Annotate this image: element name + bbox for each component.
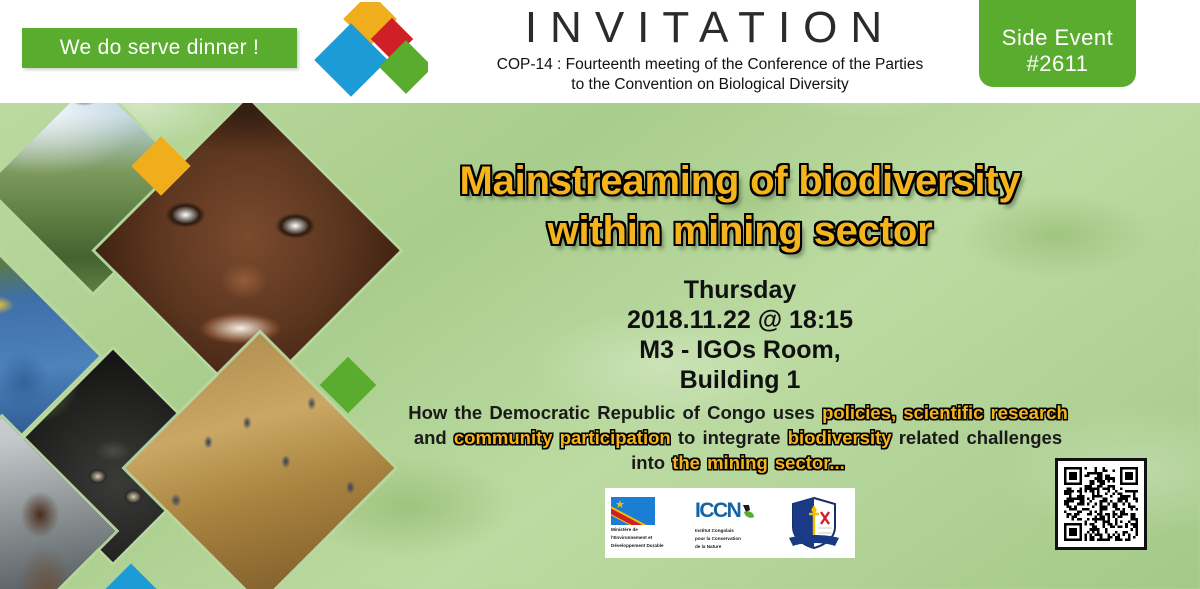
description-highlight: community participation: [454, 427, 671, 448]
iccn-okapi-leaf-icon: [741, 503, 754, 519]
photo-collage: [0, 103, 420, 589]
event-day: Thursday: [390, 275, 1090, 305]
description-highlight: policies,: [822, 402, 896, 423]
cop-subtitle-line1: COP-14 : Fourteenth meeting of the Confe…: [455, 55, 965, 74]
cop14-diamond-logo: [313, 2, 428, 99]
side-event-number: #2611: [1026, 51, 1088, 77]
drc-ministry-caption-line3: Développement Durable: [611, 543, 664, 549]
iccn-mark-icon: ICCN: [695, 496, 754, 526]
event-title-line1: Mainstreaming of biodiversity: [390, 156, 1090, 206]
iccn-logo: ICCN Institut Congolais pour la Conserva…: [695, 496, 775, 550]
invitation-header: INVITATION COP-14 : Fourteenth meeting o…: [455, 2, 965, 101]
drc-ministry-caption-line1: Ministère de: [611, 527, 638, 533]
drc-ministry-caption-line2: l'Environnement et: [611, 535, 652, 541]
drc-flag-icon: ★: [611, 497, 655, 525]
accent-diamond-blue: [98, 563, 163, 589]
side-event-badge: Side Event #2611: [979, 0, 1136, 87]
event-datetime: 2018.11.22 @ 18:15: [390, 305, 1090, 335]
event-description: How the Democratic Republic of Congo use…: [398, 400, 1078, 475]
description-text: and: [414, 427, 454, 448]
description-text: How the Democratic Republic of Congo use…: [408, 402, 822, 423]
event-title: Mainstreaming of biodiversity within min…: [390, 156, 1090, 256]
iccn-acronym: ICCN: [695, 499, 740, 523]
crest-emblem-logo: [785, 494, 843, 552]
qr-code[interactable]: [1055, 458, 1147, 550]
description-highlight: the mining sector...: [672, 452, 845, 473]
description-highlight: scientific research: [903, 402, 1067, 423]
event-room: M3 - IGOs Room,: [390, 335, 1090, 365]
event-when-where: Thursday 2018.11.22 @ 18:15 M3 - IGOs Ro…: [390, 275, 1090, 395]
drc-ministry-logo: ★ Ministère de l'Environnement et Dévelo…: [611, 497, 695, 549]
event-title-line2: within mining sector: [390, 206, 1090, 256]
side-event-label: Side Event: [1002, 25, 1113, 51]
iccn-caption-line1: Institut Congolais: [695, 528, 734, 534]
partner-logos: ★ Ministère de l'Environnement et Dévelo…: [605, 488, 855, 558]
invitation-word: INVITATION: [455, 2, 965, 54]
description-highlight: biodiversity: [788, 427, 892, 448]
event-building: Building 1: [390, 365, 1090, 395]
dinner-banner: We do serve dinner !: [22, 28, 297, 68]
iccn-caption-line3: de la Nature: [695, 544, 721, 550]
invitation-poster: Mainstreaming of biodiversity within min…: [0, 0, 1200, 589]
cop-subtitle-line2: to the Convention on Biological Diversit…: [455, 75, 965, 94]
description-text: to integrate: [671, 427, 788, 448]
iccn-caption-line2: pour la Conservation: [695, 536, 741, 542]
